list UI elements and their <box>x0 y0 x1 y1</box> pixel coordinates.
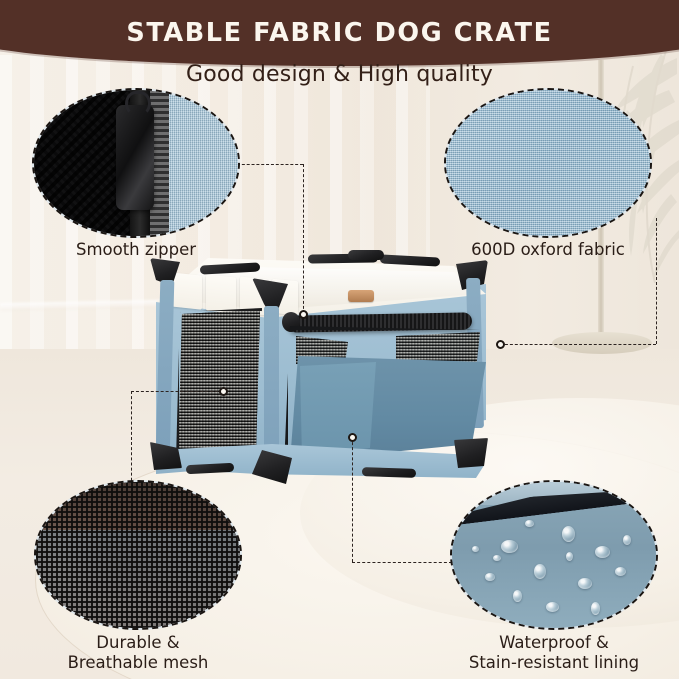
oxford-weave-texture <box>446 90 650 236</box>
callout-label-waterproof: Waterproof & Stain-resistant lining <box>446 633 662 673</box>
product-dog-crate <box>148 248 520 506</box>
water-droplet-icon <box>595 546 610 558</box>
callout-waterproof-lining[interactable]: Waterproof & Stain-resistant lining <box>450 480 658 670</box>
water-droplet-icon <box>591 602 600 615</box>
crate-flap-tab <box>206 274 236 313</box>
crate-top-handle <box>348 250 384 260</box>
callout-bubble-waterproof <box>450 480 658 630</box>
crate-flap-tab <box>170 272 202 309</box>
page-title: STABLE FABRIC DOG CRATE <box>0 18 679 48</box>
leader-line-mesh-v <box>131 391 132 491</box>
callout-oxford-fabric[interactable]: 600D oxford fabric <box>444 88 652 258</box>
leader-dot-zipper <box>299 310 308 319</box>
crate-side-handle <box>362 467 416 478</box>
callout-bubble-oxford <box>444 88 652 238</box>
infographic-canvas: STABLE FABRIC DOG CRATE Good design & Hi… <box>0 0 679 679</box>
water-droplet-icon <box>623 535 631 545</box>
leader-dot-mesh <box>219 387 228 396</box>
waterproof-photo <box>452 482 656 628</box>
mesh-grid-texture <box>36 482 240 628</box>
callout-smooth-zipper[interactable]: Smooth zipper <box>32 88 240 258</box>
leader-line-waterproof-h <box>352 562 452 563</box>
leader-line-zipper-h <box>237 164 303 165</box>
callout-label-mesh: Durable & Breathable mesh <box>34 633 242 673</box>
leader-line-zipper-v <box>303 164 304 314</box>
subtitle: Good design & High quality <box>0 62 679 87</box>
water-droplet-icon <box>534 564 546 579</box>
leader-line-oxford-v <box>656 218 657 344</box>
water-droplet-icon <box>546 602 559 612</box>
callout-bubble-mesh <box>34 480 242 630</box>
background-lamp-base <box>552 332 652 354</box>
leader-dot-waterproof <box>348 433 357 442</box>
oxford-fabric-photo <box>446 90 650 236</box>
zipper-adjacent-fabric <box>169 90 238 236</box>
water-droplet-icon <box>615 567 626 576</box>
water-droplet-icon <box>562 526 575 542</box>
zipper-pull-icon <box>116 105 155 210</box>
zipper-photo <box>34 90 238 236</box>
leader-line-waterproof-v <box>352 437 353 562</box>
callout-breathable-mesh[interactable]: Durable & Breathable mesh <box>34 480 242 670</box>
water-droplet-icon <box>485 573 495 581</box>
leader-line-mesh-h <box>131 391 223 392</box>
water-droplet-icon <box>493 555 501 561</box>
crate-logo-patch <box>348 290 374 302</box>
crate-side-handle <box>186 463 234 474</box>
mesh-photo <box>36 482 240 628</box>
crate-foot <box>454 438 490 468</box>
callout-label-zipper: Smooth zipper <box>32 240 240 260</box>
callout-bubble-zipper <box>32 88 240 238</box>
leader-dot-oxford <box>496 340 505 349</box>
callout-label-oxford: 600D oxford fabric <box>444 240 652 260</box>
leader-line-oxford-h <box>500 344 656 345</box>
